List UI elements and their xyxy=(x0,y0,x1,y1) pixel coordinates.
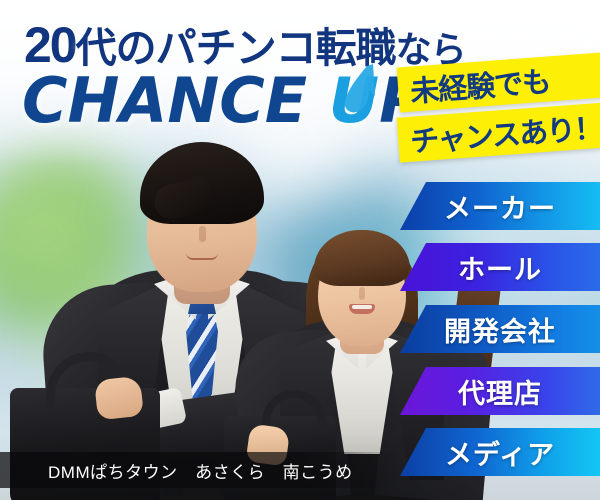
category-badge-hall[interactable]: ホール xyxy=(400,243,600,291)
caption-bar: DMMぱちタウン あさくら 南こうめ xyxy=(0,452,400,488)
category-label-developer: 開発会社 xyxy=(444,310,556,349)
logo-word-chance: CHANCE xyxy=(22,64,307,137)
category-label-media: メディア xyxy=(445,433,555,472)
category-badge-maker[interactable]: メーカー xyxy=(400,182,600,230)
logo-letter-u: U xyxy=(329,64,379,137)
yellow-badge-1-label: 未経験でも xyxy=(409,58,552,110)
category-badge-agency[interactable]: 代理店 xyxy=(400,367,600,415)
advertisement-banner[interactable]: 20代のパチンコ転職なら CHANCE UP 未経験でも チャンスあり！ メーカ… xyxy=(0,0,600,500)
caption-text: DMMぱちタウン あさくら 南こうめ xyxy=(48,458,353,483)
category-label-maker: メーカー xyxy=(444,187,556,226)
logo-chance-up: CHANCE UP xyxy=(22,70,425,132)
category-label-agency: 代理店 xyxy=(458,372,542,411)
category-badge-developer[interactable]: 開発会社 xyxy=(400,305,600,353)
category-label-hall: ホール xyxy=(458,248,542,287)
category-badge-media[interactable]: メディア xyxy=(400,428,600,476)
